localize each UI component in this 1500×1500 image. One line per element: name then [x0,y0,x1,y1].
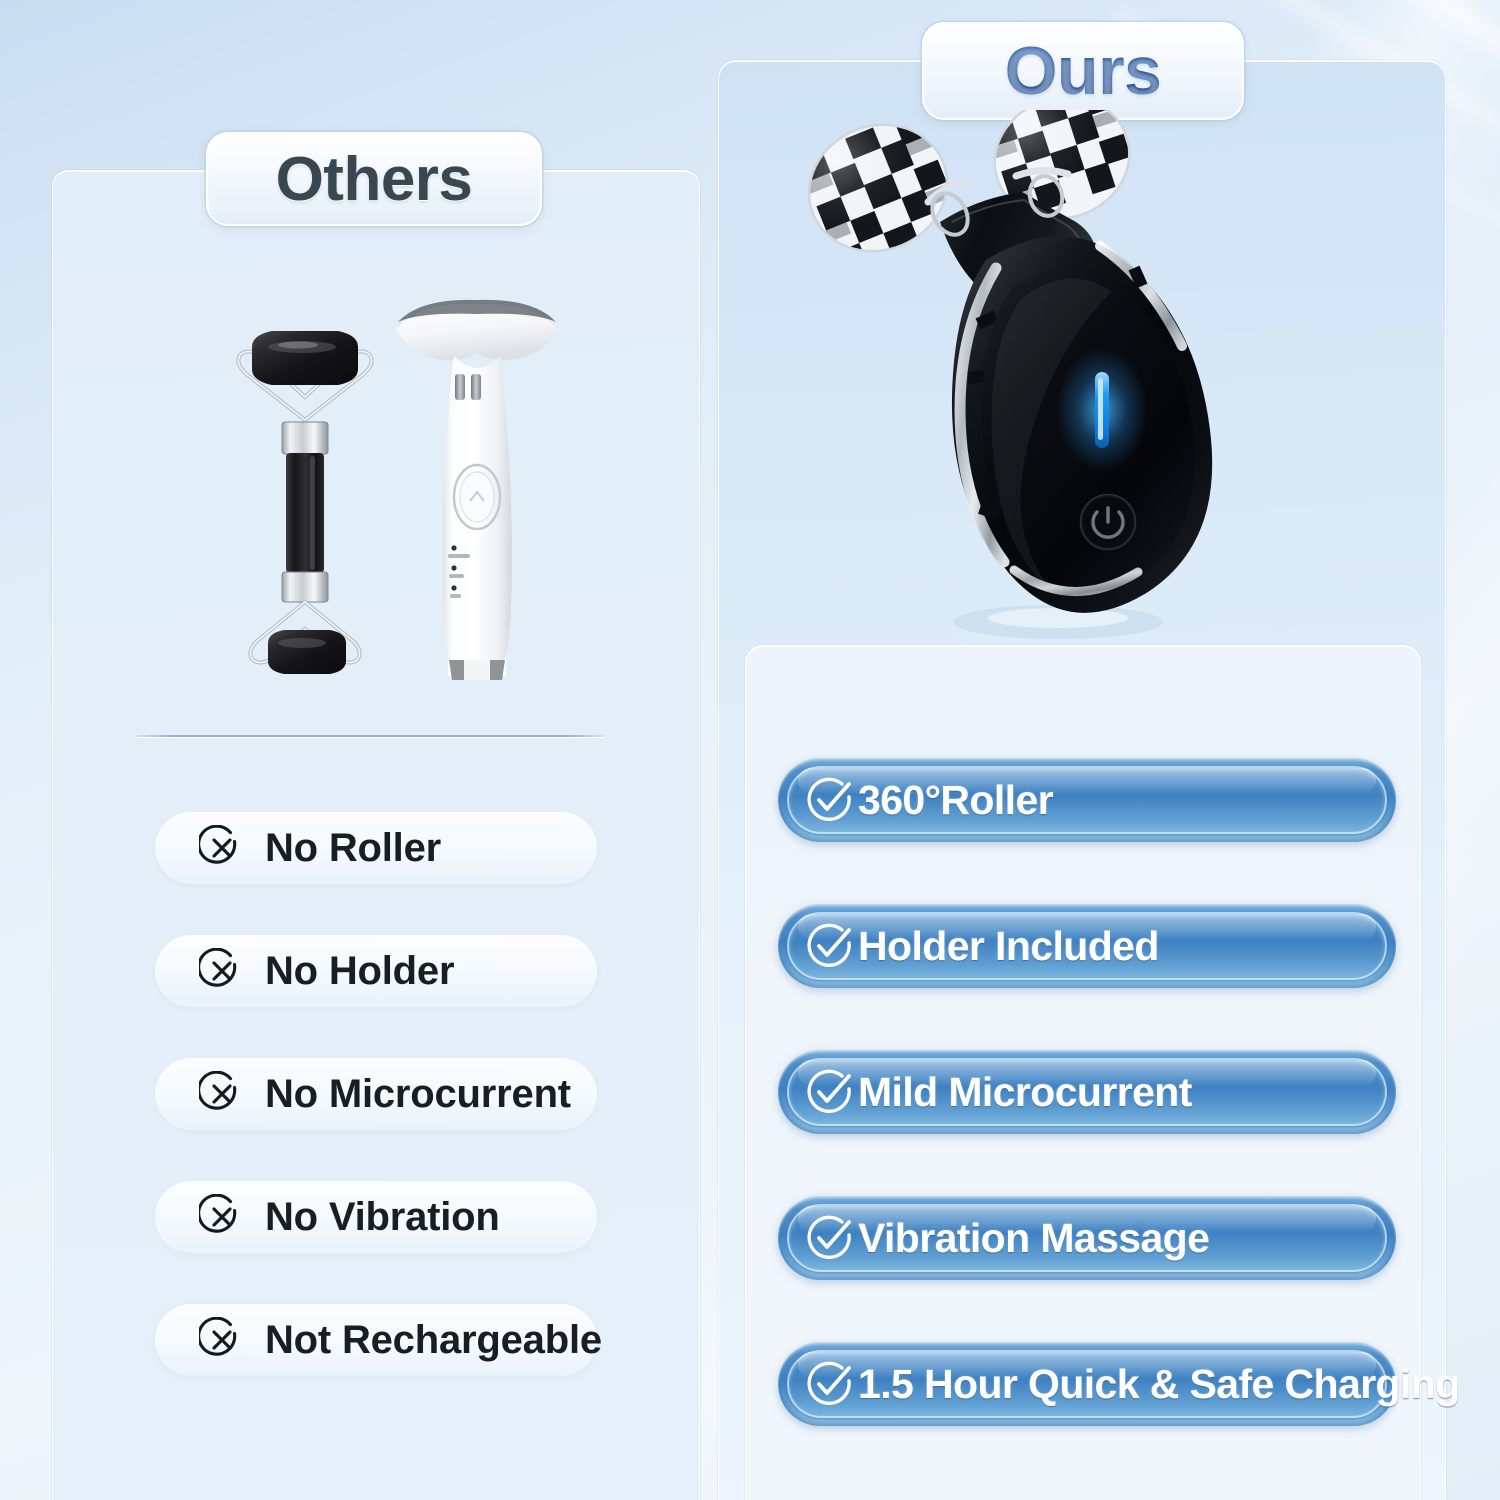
others-title-chip: Others [206,132,542,226]
list-item: No Microcurrent [155,1058,597,1130]
list-item-label: No Roller [265,826,441,871]
list-item-label: Holder Included [858,923,1159,970]
list-item-label: No Holder [265,949,454,994]
check-circle-icon [804,1359,854,1409]
list-item-label: 360°Roller [858,777,1053,824]
list-item-label: No Vibration [265,1195,500,1240]
list-item: Mild Microcurrent [778,1050,1396,1134]
ours-product-image [800,110,1270,650]
list-item: 1.5 Hour Quick & Safe Charging [778,1342,1396,1426]
list-item: Not Rechargeable [155,1304,597,1376]
check-circle-icon [804,1067,854,1117]
check-circle-icon [804,921,854,971]
others-title: Others [276,144,473,215]
x-circle-icon [199,1194,245,1240]
list-item-label: Mild Microcurrent [858,1069,1192,1116]
list-item-label: Vibration Massage [858,1215,1209,1262]
others-product-images [52,280,700,700]
ours-title: Ours [1005,32,1162,110]
check-circle-icon [804,1213,854,1263]
jade-face-roller-image [210,325,400,685]
white-neck-device-image [392,290,562,685]
x-circle-icon [199,825,245,871]
list-item: 360°Roller [778,758,1396,842]
others-feature-list: No Roller No Holder No Microcurrent No V… [155,812,597,1376]
list-item: Holder Included [778,904,1396,988]
ours-feature-list: 360°Roller Holder Included Mild Microcur… [778,758,1396,1426]
list-item: No Holder [155,935,597,1007]
list-item: No Roller [155,812,597,884]
ours-title-chip: Ours [922,22,1244,120]
list-item-label: 1.5 Hour Quick & Safe Charging [858,1361,1460,1408]
others-divider [135,735,605,737]
x-circle-icon [199,1071,245,1117]
comparison-infographic: Others [0,0,1500,1500]
x-circle-icon [199,1317,245,1363]
x-circle-icon [199,948,245,994]
list-item: Vibration Massage [778,1196,1396,1280]
list-item-label: Not Rechargeable [265,1318,602,1363]
list-item-label: No Microcurrent [265,1072,571,1117]
list-item: No Vibration [155,1181,597,1253]
check-circle-icon [804,775,854,825]
